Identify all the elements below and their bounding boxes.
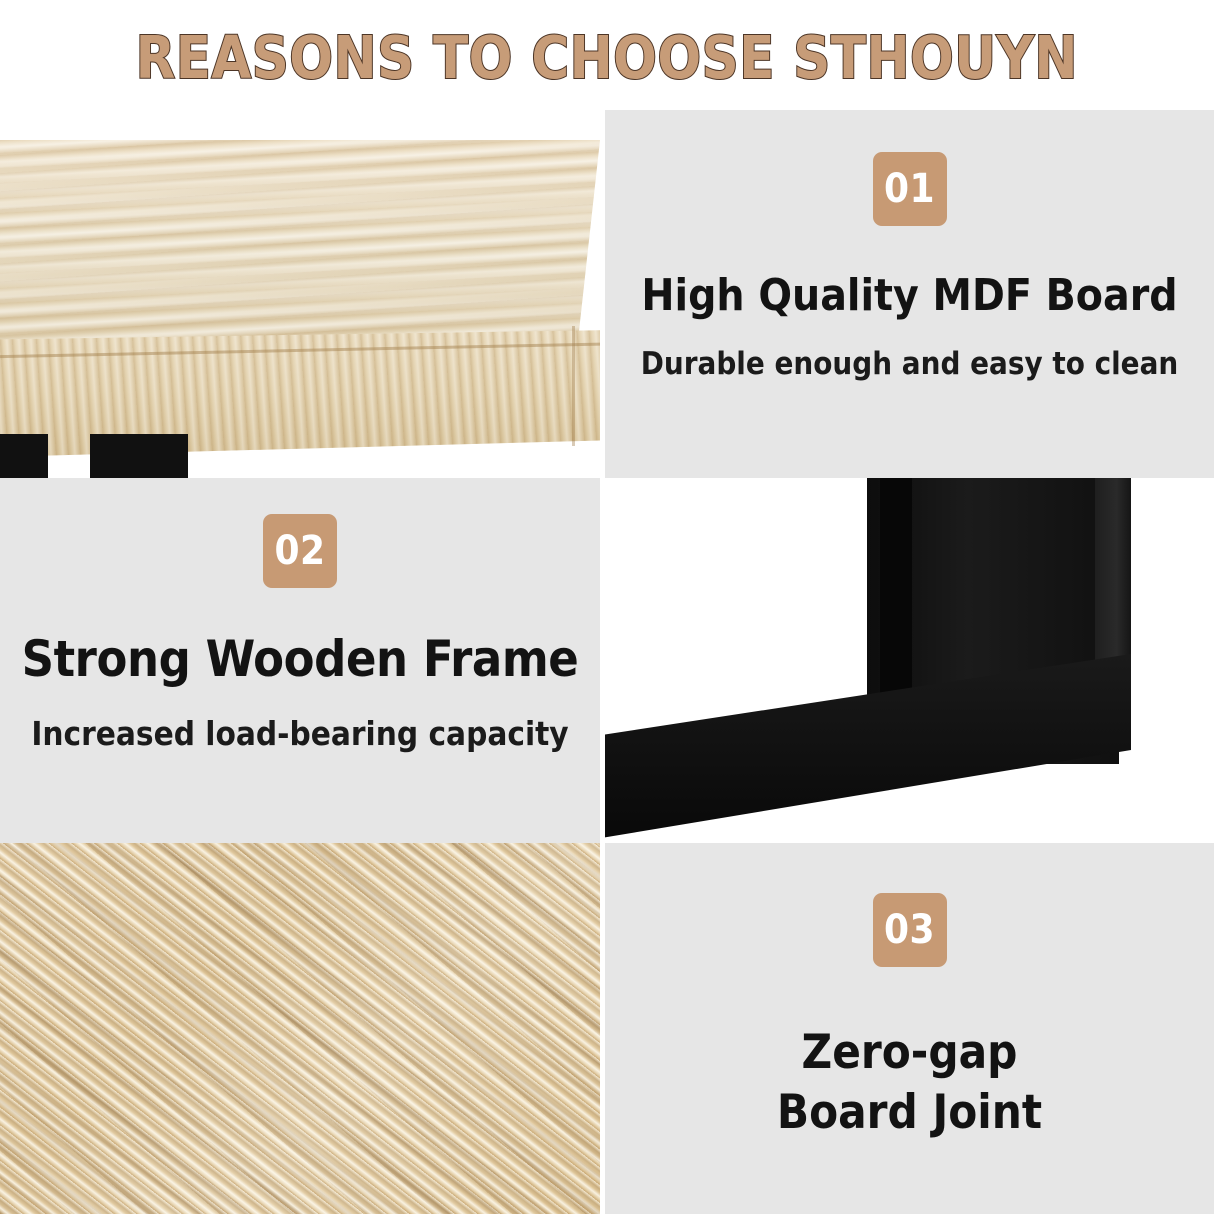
table-corner-image xyxy=(0,110,600,478)
leg-post-inner-panel xyxy=(880,478,912,706)
metal-leg-image xyxy=(605,478,1214,843)
photo-wood-grain xyxy=(0,843,600,1214)
feature-heading-02: Strong Wooden Frame xyxy=(22,632,579,687)
feature-badge-01: 01 xyxy=(873,152,947,226)
product-feature-infographic: REASONS TO CHOOSE STHOUYN 01 High Qualit… xyxy=(0,0,1214,1214)
tabletop-corner-line xyxy=(572,326,575,446)
table-leg-left xyxy=(0,434,48,478)
feature-panel-02: 02 Strong Wooden Frame Increased load-be… xyxy=(0,478,600,843)
photo-metal-leg xyxy=(605,478,1214,843)
feature-heading-03: Zero-gap Board Joint xyxy=(777,1023,1042,1143)
table-leg-right xyxy=(90,434,188,478)
feature-panel-03: 03 Zero-gap Board Joint xyxy=(605,843,1214,1214)
feature-panel-02-body: 02 Strong Wooden Frame Increased load-be… xyxy=(0,478,600,843)
feature-heading-01: High Quality MDF Board xyxy=(641,272,1177,320)
header-banner: REASONS TO CHOOSE STHOUYN xyxy=(0,0,1214,110)
feature-panel-03-body: 03 Zero-gap Board Joint xyxy=(605,843,1214,1214)
feature-badge-03: 03 xyxy=(873,893,947,967)
tabletop-grain-overlay xyxy=(0,140,600,340)
page-title: REASONS TO CHOOSE STHOUYN xyxy=(136,28,1078,87)
feature-subtitle-02: Increased load-bearing capacity xyxy=(31,715,568,753)
feature-badge-02: 02 xyxy=(263,514,337,588)
photo-table-corner xyxy=(0,110,600,478)
wood-grain-image xyxy=(0,843,600,1214)
feature-subtitle-01: Durable enough and easy to clean xyxy=(641,347,1179,383)
feature-panel-01: 01 High Quality MDF Board Durable enough… xyxy=(605,110,1214,478)
feature-panel-01-body: 01 High Quality MDF Board Durable enough… xyxy=(605,110,1214,478)
